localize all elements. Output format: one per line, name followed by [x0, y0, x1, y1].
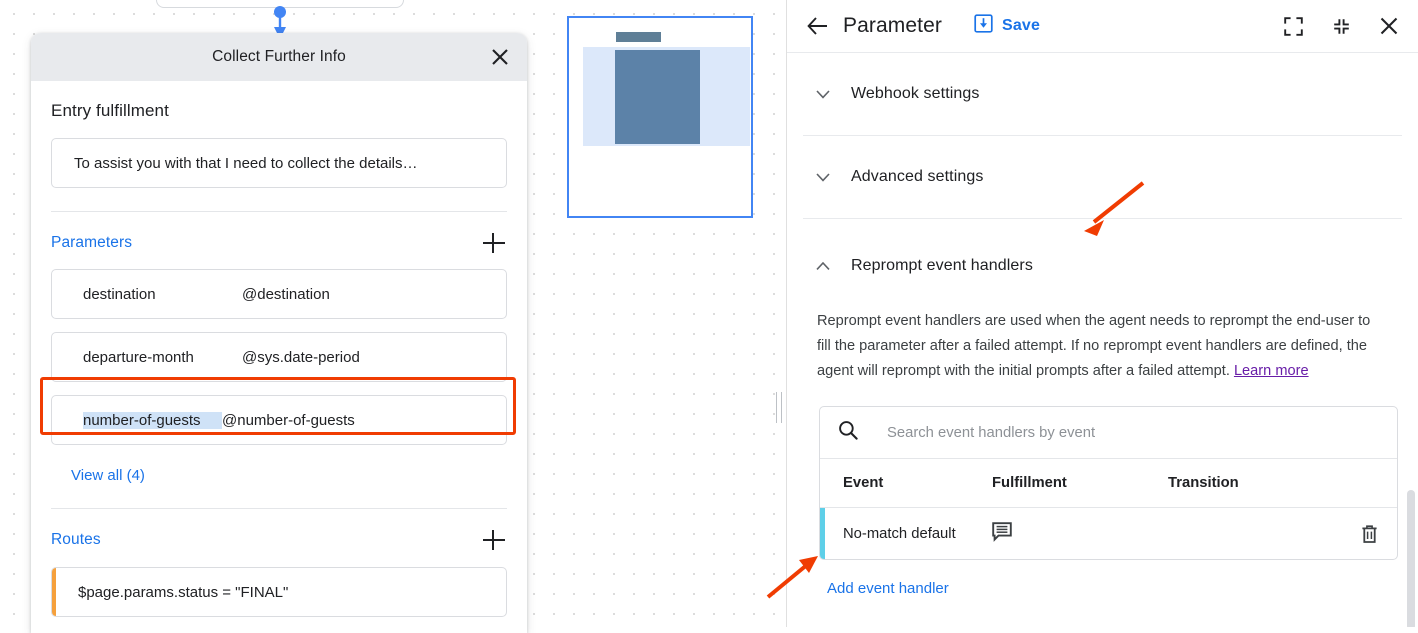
- save-button[interactable]: Save: [974, 14, 1040, 38]
- close-icon[interactable]: [1376, 13, 1402, 39]
- page-title: Parameter: [843, 14, 942, 38]
- section-label: Webhook settings: [851, 85, 980, 103]
- parameter-panel: Parameter Save: [787, 0, 1418, 627]
- list-item[interactable]: $page.params.status = "FINAL": [51, 567, 507, 617]
- panel-header-actions: [1280, 13, 1402, 39]
- event-handlers-card: Search event handlers by event Event Ful…: [819, 406, 1398, 560]
- panel-scrollbar[interactable]: [1407, 490, 1415, 627]
- table-header: Event Fulfillment Transition: [820, 459, 1397, 508]
- section-webhook-settings[interactable]: Webhook settings: [787, 75, 1418, 113]
- search-placeholder: Search event handlers by event: [887, 425, 1095, 441]
- page-node-body: Entry fulfillment To assist you with tha…: [31, 81, 527, 633]
- reprompt-description: Reprompt event handlers are used when th…: [817, 309, 1388, 384]
- parameter-name: departure-month: [52, 349, 242, 366]
- thumbnail-body-block: [615, 50, 700, 144]
- page-title: Collect Further Info: [212, 48, 346, 66]
- collapse-icon[interactable]: [1328, 13, 1354, 39]
- save-label: Save: [1002, 17, 1040, 35]
- page-node-header: Collect Further Info: [31, 33, 527, 81]
- page-thumbnail-node[interactable]: [567, 16, 753, 218]
- table-row-selected[interactable]: number-of-guests @number-of-guests: [51, 395, 507, 445]
- column-header-fulfillment: Fulfillment: [992, 475, 1168, 491]
- parameter-type: @destination: [242, 286, 330, 303]
- page-node-card[interactable]: Collect Further Info Entry fulfillment T…: [31, 33, 527, 633]
- add-event-handler-link[interactable]: Add event handler: [827, 580, 949, 597]
- save-icon: [974, 14, 993, 38]
- thumbnail-header-block: [616, 32, 661, 42]
- arrow-left-icon[interactable]: [803, 11, 833, 41]
- routes-section-header: Routes: [51, 509, 507, 553]
- parameter-type: @sys.date-period: [242, 349, 360, 366]
- route-condition: $page.params.status = "FINAL": [52, 584, 288, 601]
- divider: [803, 218, 1402, 219]
- close-icon[interactable]: [487, 44, 513, 70]
- parameter-name: number-of-guests: [83, 412, 222, 429]
- chevron-down-icon: [813, 84, 833, 104]
- search-icon: [838, 420, 858, 445]
- entry-fulfillment-heading: Entry fulfillment: [51, 81, 507, 121]
- parameter-type: @number-of-guests: [222, 412, 355, 429]
- chevron-down-icon: [813, 167, 833, 187]
- search-input[interactable]: Search event handlers by event: [820, 407, 1397, 459]
- message-icon[interactable]: [992, 522, 1168, 546]
- parameter-name: destination: [52, 286, 242, 303]
- chevron-up-icon: [813, 256, 833, 276]
- section-label: Advanced settings: [851, 168, 983, 186]
- section-label: Reprompt event handlers: [851, 257, 1033, 275]
- trash-icon[interactable]: [1341, 524, 1397, 544]
- section-reprompt-event-handlers[interactable]: Reprompt event handlers: [787, 247, 1418, 285]
- table-row[interactable]: departure-month @sys.date-period: [51, 332, 507, 382]
- column-header-transition: Transition: [1168, 475, 1341, 491]
- parameters-heading[interactable]: Parameters: [51, 234, 132, 252]
- section-advanced-settings[interactable]: Advanced settings: [787, 158, 1418, 196]
- table-row[interactable]: destination @destination: [51, 269, 507, 319]
- cell-event: No-match default: [820, 526, 992, 542]
- column-header-event: Event: [820, 475, 992, 491]
- row-accent-bar: [820, 508, 825, 559]
- add-route-icon[interactable]: [481, 527, 507, 553]
- panel-header: Parameter Save: [787, 0, 1418, 53]
- flow-canvas[interactable]: Collect Further Info Entry fulfillment T…: [0, 0, 787, 627]
- divider: [803, 135, 1402, 136]
- route-accent-bar: [52, 568, 56, 616]
- routes-heading[interactable]: Routes: [51, 531, 101, 549]
- learn-more-link[interactable]: Learn more: [1234, 363, 1309, 379]
- table-row[interactable]: No-match default: [820, 508, 1397, 559]
- parameters-section-header: Parameters: [51, 212, 507, 256]
- add-parameter-icon[interactable]: [481, 230, 507, 256]
- expand-icon[interactable]: [1280, 13, 1306, 39]
- entry-fulfillment-message[interactable]: To assist you with that I need to collec…: [51, 138, 507, 188]
- view-all-parameters-link[interactable]: View all (4): [51, 445, 145, 484]
- panel-drag-handle[interactable]: [776, 392, 784, 423]
